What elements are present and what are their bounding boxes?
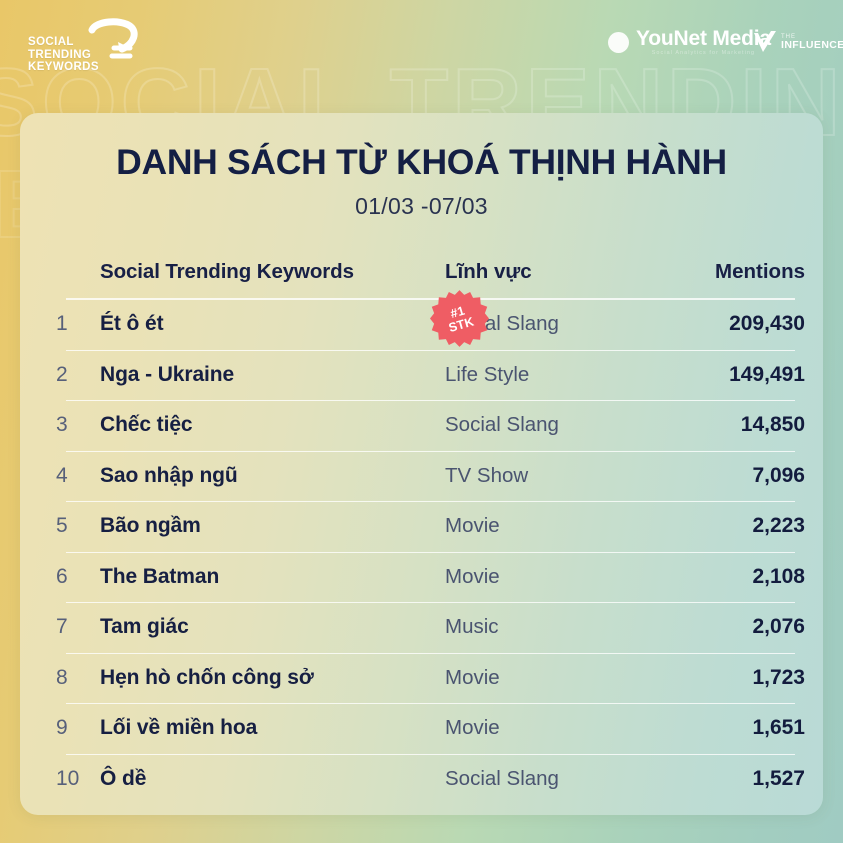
row-mentions: 2,108 bbox=[645, 565, 805, 589]
table-header-row: Social Trending Keywords Lĩnh vực Mentio… bbox=[20, 247, 823, 299]
row-rank: 1 bbox=[38, 312, 100, 336]
table-row[interactable]: 5 Bão ngầm Movie 2,223 bbox=[20, 501, 823, 552]
table-row[interactable]: 1 Ét ô ét Social Slang 209,430 bbox=[20, 299, 823, 350]
row-category: Social Slang bbox=[445, 413, 645, 437]
row-keyword: Ô dề bbox=[100, 767, 445, 791]
header-category: Lĩnh vực bbox=[445, 260, 645, 284]
row-category: Movie bbox=[445, 716, 645, 740]
header-mentions: Mentions bbox=[645, 260, 805, 284]
row-keyword: Tam giác bbox=[100, 615, 445, 639]
infographic-canvas: SOCIAL TRENDING KEYWORDS SOCIAL TRENDING… bbox=[0, 0, 843, 843]
row-mentions: 1,527 bbox=[645, 767, 805, 791]
row-mentions: 2,223 bbox=[645, 514, 805, 538]
row-rank: 3 bbox=[38, 413, 100, 437]
row-category: Social Slang bbox=[445, 767, 645, 791]
table-row[interactable]: 7 Tam giác Music 2,076 bbox=[20, 602, 823, 653]
table-row[interactable]: 4 Sao nhập ngũ TV Show 7,096 bbox=[20, 451, 823, 502]
row-category: Movie bbox=[445, 565, 645, 589]
row-rank: 2 bbox=[38, 363, 100, 387]
row-mentions: 209,430 bbox=[645, 312, 805, 336]
influencer-wordmark: THE INFLUENCER bbox=[781, 34, 843, 51]
row-keyword: The Batman bbox=[100, 565, 445, 589]
stk-logo-line-1: SOCIAL bbox=[28, 36, 99, 49]
row-category: TV Show bbox=[445, 464, 645, 488]
stk-logo-line-3: KEYWORDS bbox=[28, 61, 99, 74]
social-trending-keywords-logo: SOCIAL TRENDING KEYWORDS bbox=[24, 16, 144, 76]
row-mentions: 1,651 bbox=[645, 716, 805, 740]
row-keyword: Bão ngầm bbox=[100, 514, 445, 538]
influencer-name-label: INFLUENCER bbox=[781, 40, 843, 51]
younet-media-logo: YouNet Media Social Analytics for Market… bbox=[608, 28, 771, 57]
number-one-badge: #1 STK bbox=[430, 289, 489, 348]
row-keyword: Hẹn hò chốn công sở bbox=[100, 666, 445, 690]
younet-wordmark: YouNet Media Social Analytics for Market… bbox=[636, 28, 771, 57]
row-rank: 7 bbox=[38, 615, 100, 639]
page-title: DANH SÁCH TỪ KHOÁ THỊNH HÀNH bbox=[20, 142, 823, 183]
row-mentions: 2,076 bbox=[645, 615, 805, 639]
checkmark-icon bbox=[752, 29, 778, 55]
stk-logo-text: SOCIAL TRENDING KEYWORDS bbox=[28, 36, 99, 74]
row-category: Life Style bbox=[445, 363, 645, 387]
row-keyword: Ét ô ét bbox=[100, 312, 445, 336]
row-category: Movie bbox=[445, 666, 645, 690]
stk-logo-line-2: TRENDING bbox=[28, 49, 99, 62]
keywords-table: Social Trending Keywords Lĩnh vực Mentio… bbox=[20, 247, 823, 804]
row-rank: 10 bbox=[38, 767, 100, 791]
row-category: Music bbox=[445, 615, 645, 639]
row-mentions: 14,850 bbox=[645, 413, 805, 437]
table-row[interactable]: 3 Chếc tiệc Social Slang 14,850 bbox=[20, 400, 823, 451]
row-mentions: 149,491 bbox=[645, 363, 805, 387]
row-keyword: Sao nhập ngũ bbox=[100, 464, 445, 488]
row-rank: 8 bbox=[38, 666, 100, 690]
ranking-card: DANH SÁCH TỪ KHOÁ THỊNH HÀNH 01/03 -07/0… bbox=[20, 113, 823, 815]
header-keyword: Social Trending Keywords bbox=[100, 260, 445, 284]
row-keyword: Chếc tiệc bbox=[100, 413, 445, 437]
younet-name: YouNet Media bbox=[636, 28, 771, 49]
table-row[interactable]: 2 Nga - Ukraine Life Style 149,491 bbox=[20, 350, 823, 401]
table-row[interactable]: 8 Hẹn hò chốn công sở Movie 1,723 bbox=[20, 653, 823, 704]
row-category: Movie bbox=[445, 514, 645, 538]
row-mentions: 1,723 bbox=[645, 666, 805, 690]
younet-tagline: Social Analytics for Marketing bbox=[636, 49, 771, 57]
row-rank: 6 bbox=[38, 565, 100, 589]
row-keyword: Lối về miền hoa bbox=[100, 716, 445, 740]
row-mentions: 7,096 bbox=[645, 464, 805, 488]
date-range-subtitle: 01/03 -07/03 bbox=[20, 193, 823, 220]
table-row[interactable]: 10 Ô dề Social Slang 1,527 bbox=[20, 754, 823, 805]
row-rank: 5 bbox=[38, 514, 100, 538]
row-keyword: Nga - Ukraine bbox=[100, 363, 445, 387]
younet-circle-icon bbox=[608, 32, 629, 53]
the-influencer-logo: THE INFLUENCER bbox=[752, 29, 843, 55]
table-row[interactable]: 6 The Batman Movie 2,108 bbox=[20, 552, 823, 603]
row-rank: 9 bbox=[38, 716, 100, 740]
row-rank: 4 bbox=[38, 464, 100, 488]
table-row[interactable]: 9 Lối về miền hoa Movie 1,651 bbox=[20, 703, 823, 754]
